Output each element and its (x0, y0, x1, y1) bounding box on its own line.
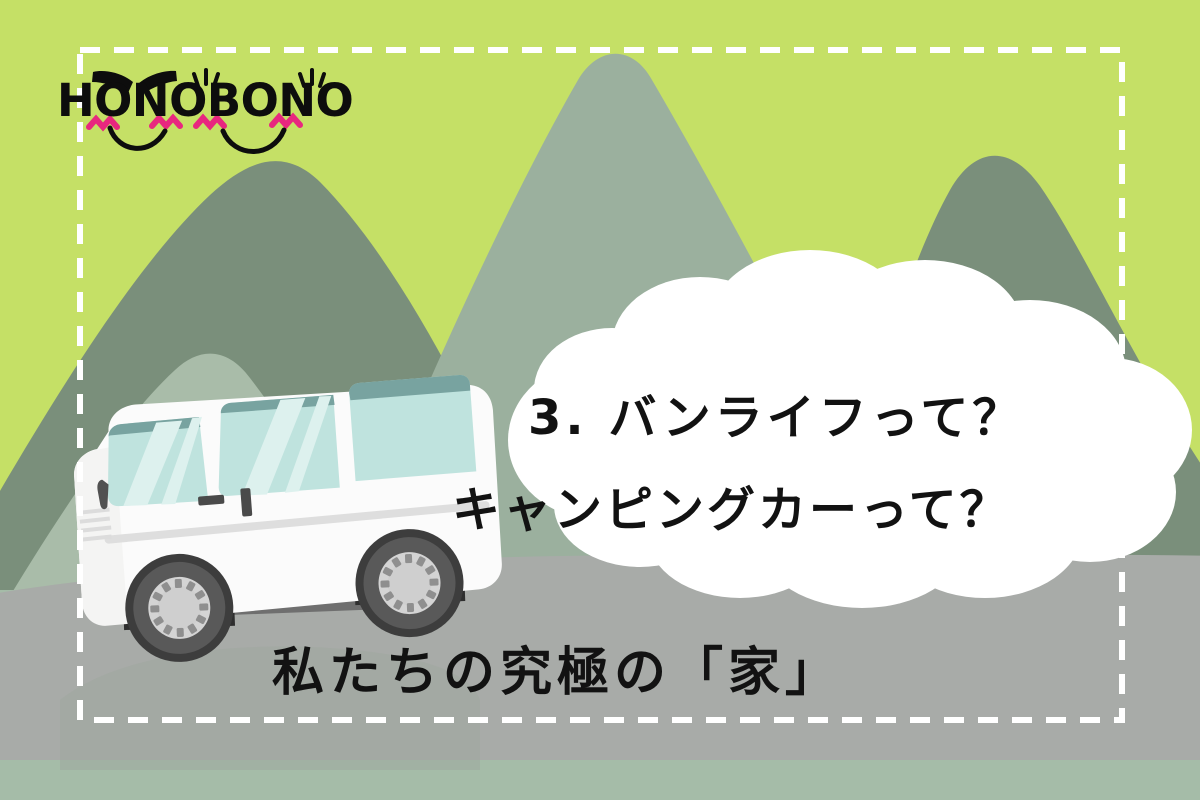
brand-logo-wordmark[interactable]: HONOBONO (57, 74, 353, 127)
van-door-handle-vertical (240, 488, 252, 517)
poster-canvas: HONOBONO 3. バンライフって？ キャンピングカーって？ 私たちの究極の… (0, 0, 1200, 800)
